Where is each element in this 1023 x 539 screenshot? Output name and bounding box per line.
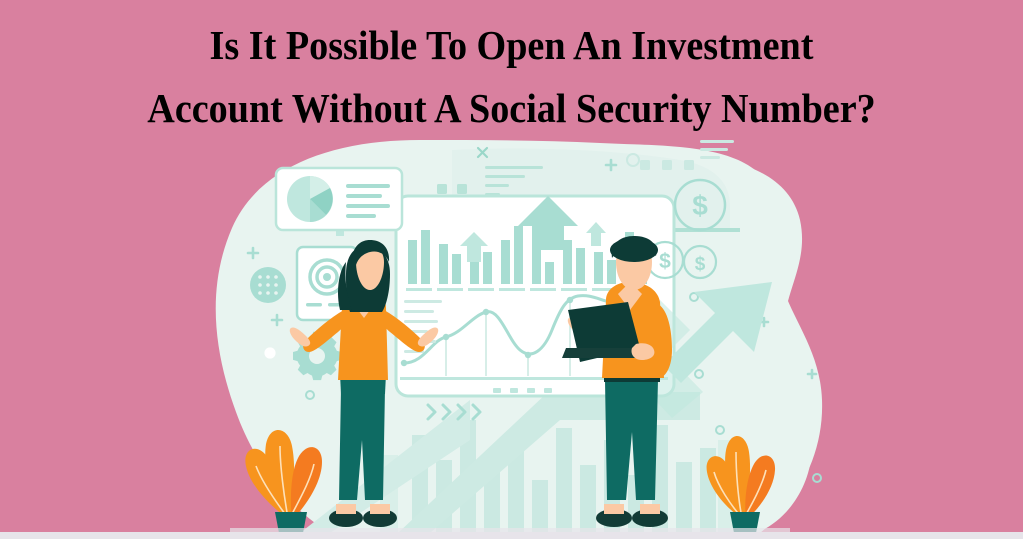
dotted-circle-icon [250, 267, 286, 303]
page-title-line-1: Is It Possible To Open An Investment [36, 14, 987, 77]
dollar-glyph-large: $ [692, 190, 708, 221]
page-root: $ $ $ [0, 0, 1023, 539]
page-title: Is It Possible To Open An Investment Acc… [0, 14, 1023, 140]
page-title-line-2: Account Without A Social Security Number… [36, 77, 987, 140]
pie-chart [287, 176, 333, 222]
bottom-strip [0, 532, 1023, 539]
dollar-glyph-small: $ [659, 250, 671, 273]
pie-chart-card [276, 168, 402, 236]
target-ring-inner [323, 273, 331, 281]
man-hair-cap [610, 238, 658, 262]
panel-squares-right [640, 160, 694, 170]
dollar-glyph-medium: $ [695, 254, 706, 275]
